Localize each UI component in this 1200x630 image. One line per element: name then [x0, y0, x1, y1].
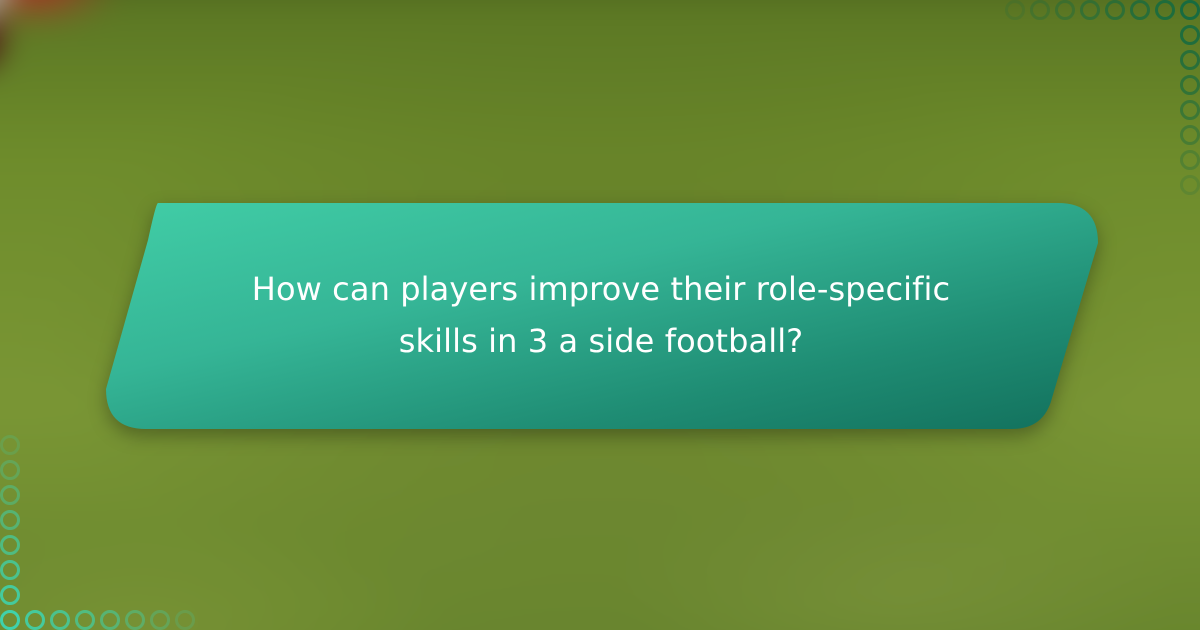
decorative-ring — [100, 610, 120, 630]
decorative-ring — [1180, 175, 1200, 195]
question-text: How can players improve their role-speci… — [220, 264, 982, 368]
decorative-ring — [1180, 25, 1200, 45]
decorative-ring — [1180, 50, 1200, 70]
decorative-ring — [1080, 0, 1100, 20]
decorative-ring — [75, 610, 95, 630]
decorative-ring — [1055, 0, 1075, 20]
decorative-ring — [0, 535, 20, 555]
decorative-ring — [25, 610, 45, 630]
question-card: How can players improve their role-speci… — [100, 200, 1102, 432]
decorative-ring — [1155, 0, 1175, 20]
decorative-ring — [1105, 0, 1125, 20]
decorative-ring — [0, 610, 20, 630]
decorative-ring — [1180, 0, 1200, 20]
decorative-ring — [1130, 0, 1150, 20]
decorative-ring — [1180, 75, 1200, 95]
decorative-ring — [0, 510, 20, 530]
decorative-ring — [125, 610, 145, 630]
decorative-ring — [150, 610, 170, 630]
decorative-ring — [1180, 100, 1200, 120]
decorative-ring — [0, 435, 20, 455]
circle-cluster-bottom-left — [0, 430, 210, 630]
decorative-ring — [1180, 150, 1200, 170]
circle-cluster-top-right — [1000, 0, 1200, 210]
decorative-ring — [0, 585, 20, 605]
decorative-ring — [0, 460, 20, 480]
screenshot-canvas: How can players improve their role-speci… — [0, 0, 1200, 630]
question-card-text: How can players improve their role-speci… — [100, 200, 1102, 432]
decorative-ring — [1030, 0, 1050, 20]
decorative-ring — [50, 610, 70, 630]
decorative-ring — [1180, 125, 1200, 145]
decorative-ring — [0, 560, 20, 580]
decorative-ring — [0, 485, 20, 505]
decorative-ring — [1005, 0, 1025, 20]
decorative-ring — [175, 610, 195, 630]
